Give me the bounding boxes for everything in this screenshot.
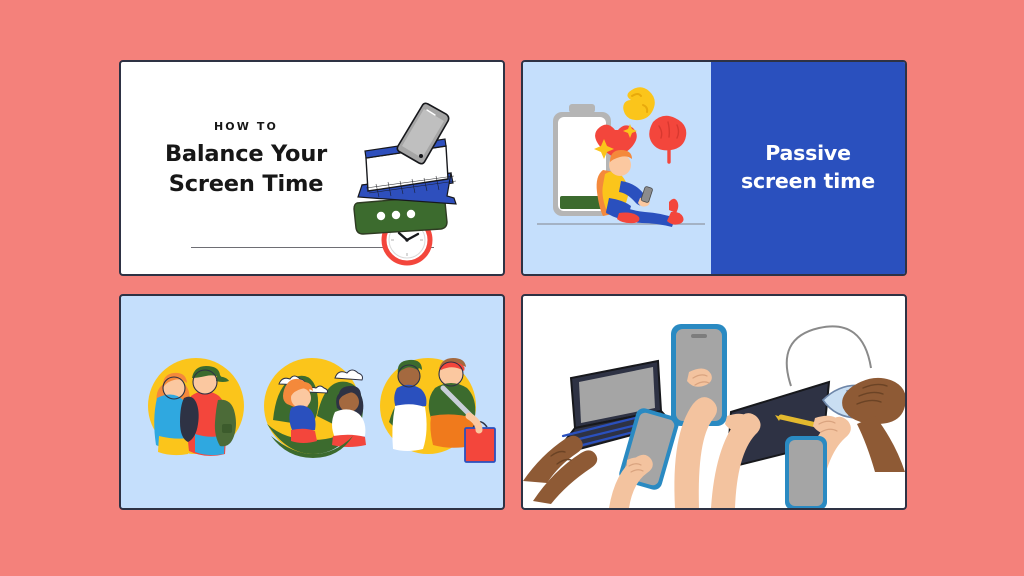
headline-line-2: Screen Time [151,170,341,200]
passive-label-line-2: screen time [741,168,875,196]
passive-label-line-1: Passive [741,140,875,168]
vignettes-illustration [121,296,503,508]
flexed-bicep-emoji [623,87,655,120]
brain-emoji [649,116,686,162]
vignette-hikers-with-backpacks [148,358,244,456]
panel-title-slide[interactable]: HOW TO Balance Your Screen Time [119,60,505,276]
headline-line-1: Balance Your [151,140,341,170]
passive-illustration-pane [523,62,711,274]
passive-label-pane: Passive screen time [711,62,905,274]
passive-label-text: Passive screen time [741,140,875,195]
panel-active-lifestyle[interactable] [119,294,505,510]
title-text-block: HOW TO Balance Your Screen Time [151,120,341,199]
vignette-friends-walking [380,358,495,462]
balanced-device-stack-illustration [336,100,486,270]
person-with-low-battery-illustration [531,74,711,266]
panel-passive-screen-time[interactable]: Passive screen time [521,60,907,276]
hand-on-mouse [842,378,905,472]
slide-deck-canvas: HOW TO Balance Your Screen Time [0,0,1024,576]
panel-devices-in-hands[interactable] [521,294,907,510]
mouse-cable [787,326,871,386]
smartphone-icon-lower-right [785,436,827,508]
kicker-label: HOW TO [151,120,341,133]
hands-holding-devices-illustration [523,296,905,508]
vignette-friends-in-nature [264,358,366,458]
